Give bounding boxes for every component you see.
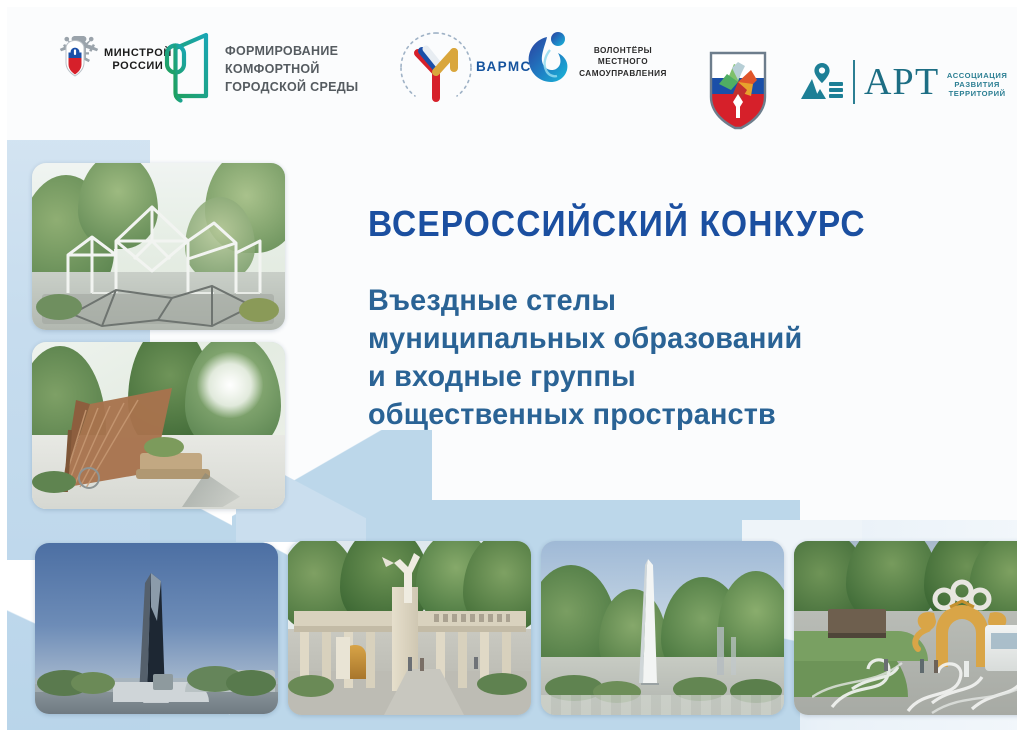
logo-varmsu: ВАРМСУ xyxy=(396,28,504,108)
gallery-photo-colonnade xyxy=(288,541,531,715)
subtitle-line-4: общественных пространств xyxy=(368,396,944,434)
subtitle-block: Въездные стелы муниципальных образований… xyxy=(368,282,968,434)
logo-sreda-line1: ФОРМИРОВАНИЕ xyxy=(225,42,358,60)
partner-logo-bar: МИНСТРОЙ РОССИИ xyxy=(0,24,1024,134)
municipal-coat-of-arms-icon xyxy=(707,50,769,132)
logo-art-caption: АССОЦИАЦИЯ РАЗВИТИЯ ТЕРРИТОРИЙ xyxy=(939,71,1015,98)
logo-komfortnaya-sreda: ФОРМИРОВАНИЕ КОМФОРТНОЙ ГОРОДСКОЙ СРЕДЫ xyxy=(162,32,358,106)
subtitle-line-3: и входные группы xyxy=(368,358,944,396)
logo-volontery: ВОЛОНТЁРЫ МЕСТНОГО САМОУПРАВЛЕНИЯ xyxy=(520,30,670,90)
gallery-photo-glass-pavilion xyxy=(32,163,285,330)
page-title: ВСЕРОССИЙСКИЙ КОНКУРС xyxy=(368,205,926,243)
art-wordmark: АРТ xyxy=(864,63,939,101)
volunteer-wave-person-icon xyxy=(520,30,576,90)
logo-volontery-line1: ВОЛОНТЁРЫ МЕСТНОГО xyxy=(576,45,670,67)
gallery-photo-white-stele xyxy=(541,541,784,715)
subtitle-line-2: муниципальных образований xyxy=(368,320,944,358)
gallery-photo-crown-arch xyxy=(794,541,1024,715)
green-house-outline-icon xyxy=(162,32,214,106)
logo-minstroy: МИНСТРОЙ РОССИИ xyxy=(46,30,158,86)
logo-volontery-line2: САМОУПРАВЛЕНИЯ xyxy=(576,68,670,79)
logo-sreda-line2: КОМФОРТНОЙ xyxy=(225,60,358,78)
poster-canvas: МИНСТРОЙ РОССИИ xyxy=(0,0,1024,737)
logo-art: АРТ АССОЦИАЦИЯ РАЗВИТИЯ ТЕРРИТОРИЙ xyxy=(800,60,1015,104)
varmsu-emblem-icon xyxy=(396,28,476,108)
gallery-photo-obelisk xyxy=(35,543,278,714)
art-divider xyxy=(853,60,855,104)
logo-sreda-line3: ГОРОДСКОЙ СРЕДЫ xyxy=(225,78,358,96)
map-pin-layers-icon xyxy=(800,62,844,102)
headline-block: ВСЕРОССИЙСКИЙ КОНКУРС Въездные стелы мун… xyxy=(368,205,968,434)
russian-double-headed-eagle-icon xyxy=(46,30,104,86)
gallery-photo-canopy xyxy=(32,342,285,509)
subtitle-line-1: Въездные стелы xyxy=(368,282,944,320)
logo-coat-of-arms xyxy=(690,50,786,132)
